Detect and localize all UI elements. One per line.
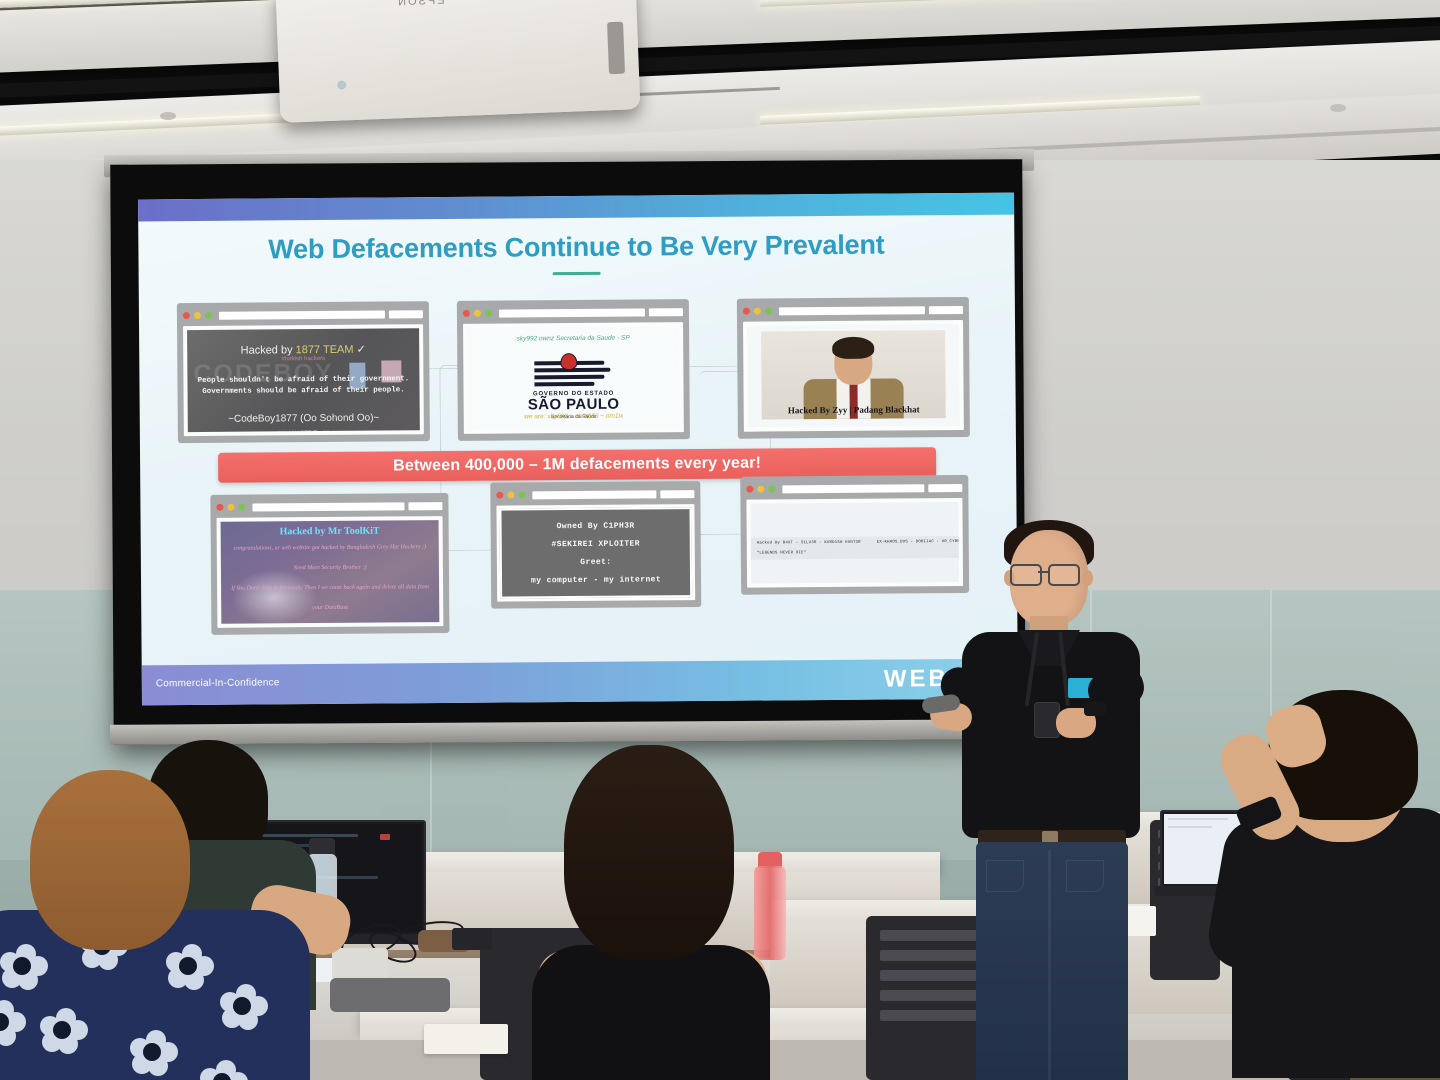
connector-line [699,533,747,535]
minimize-icon [507,492,514,499]
toolbar-button [660,490,694,498]
close-icon [496,492,503,499]
confidentiality-label: Commercial-In-Confidence [156,677,280,689]
book [424,1024,508,1054]
audience-member-center [520,745,780,1080]
window-chrome [463,305,683,320]
toolkit-headline: Hacked by Mr ToolKiT [221,525,439,538]
toolbar-button [408,502,442,510]
minimize-icon [194,312,201,319]
codeboy-message: People shouldn't be afraid of their gove… [187,374,419,398]
address-bar [782,484,924,493]
projector-brand-label: EPSON [396,0,445,8]
defacement-window-c1ph3r: Owned By C1PH3R #SEKIREI XPLOITER Greet:… [490,481,701,609]
toolbar-button [929,305,963,313]
address-bar [499,308,645,317]
defacement-window-codeboy: CODEBOY Hacked by 1877 TEAM ✓ #turkish h… [177,301,430,443]
laptop-sleeve [330,978,450,1012]
window-viewport: Hacked by Mr ToolKiT congratulations, ur… [217,516,444,628]
title-underline [553,272,601,275]
glasses-icon [1010,564,1042,586]
maximize-icon [765,307,772,314]
maximize-icon [485,310,492,317]
window-chrome [746,481,962,496]
toolbar-button [649,308,683,316]
toolkit-line2: Need More Security Brother :) [221,564,439,572]
address-bar [219,310,385,319]
address-bar [779,306,925,315]
legends-line2: "LEGENDS NEVER DIE" [757,551,806,555]
sao-paulo-flag-icon [534,357,612,390]
padang-caption: Hacked By Zyy | Padang Blackhat [748,404,960,416]
toolkit-line3: If You Don't Take It Seriously, Then I w… [221,584,439,592]
c1ph3r-line2: #SEKIREI XPLOITER [551,538,640,550]
close-icon [216,504,223,511]
codeboy-url: WwW.1877.TeaM [188,429,420,432]
presenter [938,520,1198,1080]
maximize-icon [205,312,212,319]
wristwatch [1084,702,1106,716]
audience-member-floral-top [0,760,320,1080]
c1ph3r-line3: Greet: [580,556,611,567]
minimize-icon [227,504,234,511]
connector-line [447,549,495,551]
toolkit-line4: your DataBase [221,604,439,612]
hair [564,745,734,960]
minimize-icon [757,486,764,493]
toolkit-line1: congratulations, ur web website got hack… [221,544,439,552]
defacement-window-mr-toolkit: Hacked by Mr ToolKiT congratulations, ur… [210,493,449,635]
window-chrome [183,307,423,322]
address-bar [252,502,404,511]
minimize-icon [754,308,761,315]
lecture-room-photo: EPSON Web Defacements Continue to Be Ver… [0,0,1440,1080]
sao-paulo-top-text: sky992 ownz Secretaria da Saude - SP [467,334,679,343]
window-viewport: Hacked By B4XT - S1LV3R - KURD1SH HUNT3R… [746,498,963,588]
maximize-icon [768,485,775,492]
close-icon [743,308,750,315]
defacement-window-sao-paulo: sky992 ownz Secretaria da Saude - SP GOV… [457,299,690,441]
tissue-pack [332,948,388,980]
codeboy-signature: ~CodeBoy1877 (Oo Sohond Oo)~ [188,412,420,425]
slide-title: Web Defacements Continue to Be Very Prev… [138,229,1014,267]
banner-text: Between 400,000 – 1M defacements every y… [393,455,761,476]
ceiling-projector: EPSON [276,0,641,123]
sao-paulo-logo-line2: SÃO PAULO [522,397,626,414]
toolbar-button [389,310,423,318]
window-viewport: CODEBOY Hacked by 1877 TEAM ✓ #turkish h… [183,324,424,436]
close-icon [183,312,190,319]
slide-footer: Commercial-In-Confidence WEB RI [142,659,1018,706]
maximize-icon [238,504,245,511]
audience-member-right-black-polo [1210,690,1440,1080]
connector-line [687,365,741,367]
c1ph3r-line1: Owned By C1PH3R [557,520,635,532]
projector-lens [607,22,625,75]
close-icon [746,486,753,493]
c1ph3r-line4: my computer - my internet [531,574,661,586]
close-icon [463,310,470,317]
presentation-slide: Web Defacements Continue to Be Very Prev… [138,193,1018,706]
sao-paulo-bottom-text: we are: sky992 ~ xh0t666 ~ om1ix [468,412,680,421]
hair [30,770,190,950]
glasses-icon [1048,564,1080,586]
toolbar-button [928,483,962,491]
sao-paulo-logo: GOVERNO DO ESTADO SÃO PAULO Secretaria d… [521,357,625,421]
defacement-window-padang-blackhat: Hacked By Zyy | Padang Blackhat [737,297,970,439]
window-viewport: sky992 ownz Secretaria da Saude - SP GOV… [463,322,684,434]
window-viewport: Owned By C1PH3R #SEKIREI XPLOITER Greet:… [496,504,695,602]
window-chrome [496,487,694,502]
window-chrome [743,303,963,318]
minimize-icon [474,310,481,317]
window-chrome [216,499,442,514]
power-adapter [452,928,492,950]
window-viewport: Hacked By Zyy | Padang Blackhat [743,320,964,432]
address-bar [532,490,656,499]
maximize-icon [518,491,525,498]
ceiling: EPSON [0,0,1440,175]
legends-line1: Hacked By B4XT - S1LV3R - KURD1SH HUNT3R [757,541,861,546]
defacement-window-legends: Hacked By B4XT - S1LV3R - KURD1SH HUNT3R… [740,475,969,595]
torso [532,945,770,1080]
